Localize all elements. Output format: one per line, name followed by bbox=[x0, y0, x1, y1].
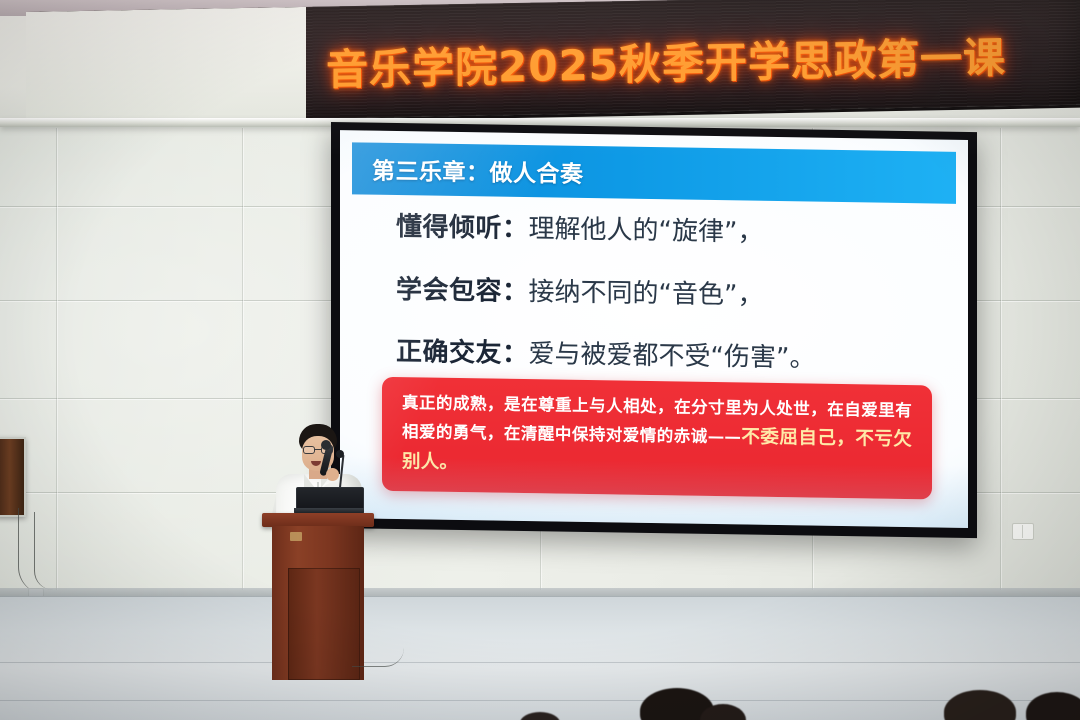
wall-access-panel bbox=[0, 437, 26, 517]
bullet-body: 理解他人的“旋律”， bbox=[529, 214, 764, 248]
led-banner-left-cap bbox=[26, 7, 306, 124]
podium-body bbox=[272, 526, 364, 680]
projection-screen: 第三乐章：做人合奏 懂得倾听：理解他人的“旋律”， 学会包容：接纳不同的“音色”… bbox=[331, 122, 977, 538]
slide-bullet: 正确交友：爱与被爱都不受“伤害”。 bbox=[396, 338, 938, 375]
wall-seam bbox=[56, 128, 57, 590]
lecture-hall-photo: 音乐学院2025秋季开学思政第一课 第三乐章：做人合奏 懂得倾听：理解他人的“旋… bbox=[0, 0, 1080, 720]
baseboard bbox=[0, 588, 1080, 597]
floor-seam bbox=[0, 662, 1080, 663]
led-banner: 音乐学院2025秋季开学思政第一课 bbox=[26, 0, 1080, 127]
slide-title: 第三乐章：做人合奏 bbox=[372, 152, 584, 189]
microphone-head bbox=[321, 440, 331, 450]
slide-header-bar: 第三乐章：做人合奏 bbox=[352, 142, 956, 203]
wall-seam bbox=[1000, 128, 1001, 590]
led-banner-text: 音乐学院2025秋季开学思政第一课 bbox=[326, 23, 1066, 98]
laptop bbox=[294, 487, 364, 515]
wall-switch-plate bbox=[1012, 523, 1034, 540]
callout-paragraph: 真正的成熟，是在尊重上与人相处，在分寸里为人处世，在自爱里有相爱的勇气，在清醒中… bbox=[402, 390, 912, 485]
bullet-body: 爱与被爱都不受“伤害”。 bbox=[529, 339, 816, 374]
mic-stand-head bbox=[336, 450, 344, 458]
presenter-right-hand bbox=[326, 468, 339, 481]
wall-cable bbox=[34, 512, 53, 590]
bullet-lead: 学会包容： bbox=[396, 275, 529, 307]
screen-surface: 第三乐章：做人合奏 懂得倾听：理解他人的“旋律”， 学会包容：接纳不同的“音色”… bbox=[340, 130, 968, 528]
wall-seam bbox=[242, 128, 243, 590]
podium-emblem bbox=[290, 532, 302, 541]
glasses-lens-left bbox=[303, 446, 315, 454]
bullet-lead: 懂得倾听： bbox=[396, 212, 529, 244]
podium-front-panel bbox=[288, 568, 360, 680]
stage-floor bbox=[0, 596, 1080, 720]
slide-bullet: 懂得倾听：理解他人的“旋律”， bbox=[396, 213, 938, 250]
bullet-lead: 正确交友： bbox=[396, 337, 529, 369]
bullet-body: 接纳不同的“音色”， bbox=[529, 277, 764, 311]
presentation-slide: 第三乐章：做人合奏 懂得倾听：理解他人的“旋律”， 学会包容：接纳不同的“音色”… bbox=[340, 130, 968, 528]
slide-callout-box: 真正的成熟，是在尊重上与人相处，在分寸里为人处世，在自爱里有相爱的勇气，在清醒中… bbox=[382, 377, 932, 499]
floor-seam bbox=[0, 700, 1080, 701]
podium-top bbox=[262, 513, 374, 527]
slide-bullet: 学会包容：接纳不同的“音色”， bbox=[396, 276, 938, 313]
